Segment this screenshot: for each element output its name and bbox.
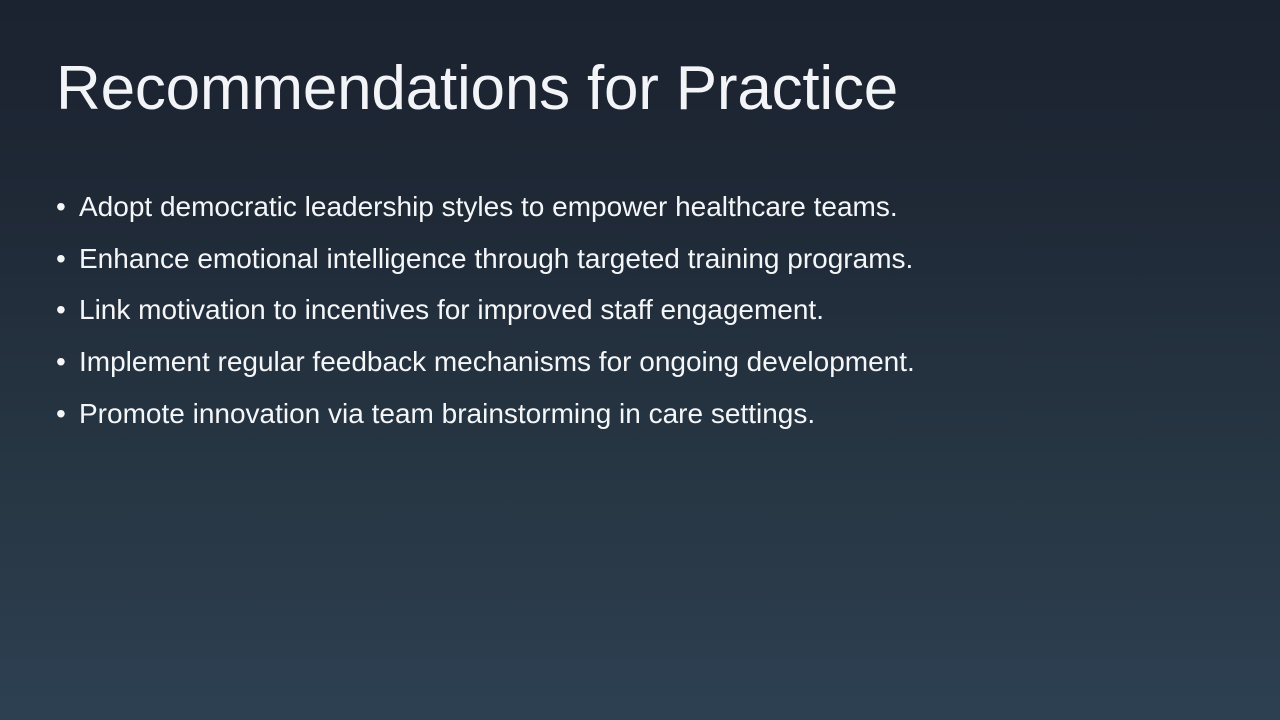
list-item: • Link motivation to incentives for impr…	[56, 289, 1236, 341]
list-item-label: Enhance emotional intelligence through t…	[79, 243, 913, 274]
bullet-dot-icon: •	[56, 186, 74, 228]
list-item: • Promote innovation via team brainstorm…	[56, 393, 1236, 445]
list-item-label: Implement regular feedback mechanisms fo…	[79, 346, 915, 377]
body-content: • Adopt democratic leadership styles to …	[56, 186, 1236, 444]
list-item-label: Promote innovation via team brainstormin…	[79, 398, 815, 429]
bullet-dot-icon: •	[56, 341, 74, 383]
list-item: • Enhance emotional intelligence through…	[56, 238, 1236, 290]
bullet-dot-icon: •	[56, 393, 74, 435]
list-item-label: Adopt democratic leadership styles to em…	[79, 191, 898, 222]
bullet-list: • Adopt democratic leadership styles to …	[56, 186, 1236, 444]
list-item: • Implement regular feedback mechanisms …	[56, 341, 1236, 393]
bullet-dot-icon: •	[56, 289, 74, 331]
list-item-label: Link motivation to incentives for improv…	[79, 294, 824, 325]
page-title: Recommendations for Practice	[56, 52, 1224, 126]
title-block: Recommendations for Practice	[56, 52, 1224, 126]
list-item: • Adopt democratic leadership styles to …	[56, 186, 1236, 238]
bullet-dot-icon: •	[56, 238, 74, 280]
slide-canvas: Recommendations for Practice • Adopt dem…	[0, 0, 1280, 720]
